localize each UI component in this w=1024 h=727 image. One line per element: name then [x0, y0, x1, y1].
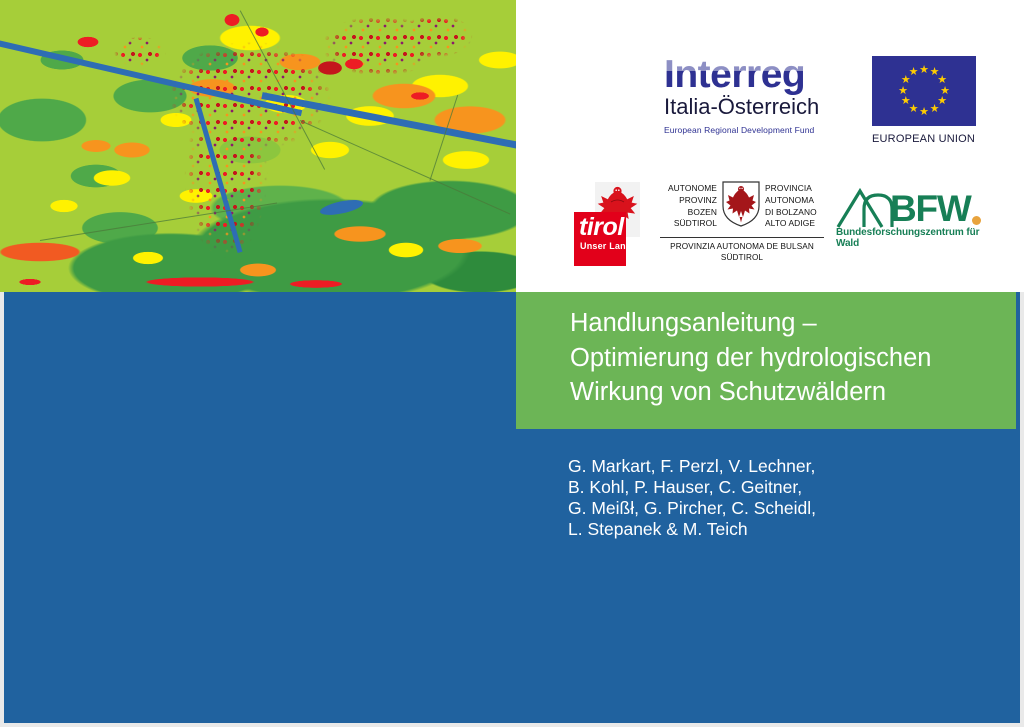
south-tyrol-italian-lines: PROVINCIA AUTONOMA DI BOLZANO ALTO ADIGE: [765, 183, 823, 231]
eu-star-icon: ★: [929, 104, 940, 115]
south-tyrol-divider: [660, 237, 824, 238]
eu-star-icon: ★: [900, 96, 911, 107]
eu-flag-icon: ★★★★★★★★★★★★: [872, 56, 976, 126]
report-cover-page: Interreg Italia-Österreich European Regi…: [0, 0, 1024, 727]
author-list: G. Markart, F. Perzl, V. Lechner, B. Koh…: [568, 456, 988, 540]
author-line: G. Markart, F. Perzl, V. Lechner,: [568, 456, 988, 477]
tirol-tagline: Unser Land: [580, 241, 632, 251]
bfw-logo: BFW Bundesforschungszentrum für Wald: [834, 183, 999, 253]
author-line: G. Meißł, G. Pircher, C. Scheidl,: [568, 498, 988, 519]
south-tyrol-logo: AUTONOME PROVINZ BOZEN SÜDTIROL: [656, 180, 828, 263]
author-line: B. Kohl, P. Hauser, C. Geitner,: [568, 477, 988, 498]
logo-band: Interreg Italia-Österreich European Regi…: [516, 0, 1024, 292]
page-left-edge: [0, 292, 4, 727]
eu-star-icon: ★: [919, 65, 930, 76]
eu-caption: EUROPEAN UNION: [872, 133, 982, 145]
cover-map-image: [0, 0, 516, 292]
page-bottom-edge: [0, 723, 1024, 727]
bfw-acronym: BFW: [890, 190, 971, 227]
document-title: Handlungsanleitung – Optimierung der hyd…: [570, 306, 998, 410]
tirol-name: tirol: [579, 215, 624, 240]
european-union-logo: ★★★★★★★★★★★★ EUROPEAN UNION: [872, 56, 982, 145]
south-tyrol-german-lines: AUTONOME PROVINZ BOZEN SÜDTIROL: [661, 183, 717, 231]
interreg-wordmark-text: Interreg: [664, 53, 805, 96]
author-line: L. Stepanek & M. Teich: [568, 519, 988, 540]
bfw-tagline: Bundesforschungszentrum für Wald: [836, 227, 999, 249]
eu-star-icon: ★: [898, 86, 909, 97]
eu-star-icon: ★: [919, 107, 930, 118]
interreg-programme-name: Italia-Österreich: [664, 95, 854, 120]
interreg-fund-line: European Regional Development Fund: [664, 125, 854, 135]
title-band: Handlungsanleitung – Optimierung der hyd…: [516, 292, 1016, 429]
bfw-dot: [972, 216, 981, 225]
tirol-logo: tirol Unser Land: [574, 182, 640, 266]
south-tyrol-top-row: AUTONOME PROVINZ BOZEN SÜDTIROL: [656, 180, 828, 233]
interreg-wordmark: Interreg: [664, 55, 805, 94]
south-tyrol-coat-of-arms-icon: [721, 180, 761, 233]
eu-star-icon: ★: [908, 67, 919, 78]
page-right-edge: [1020, 292, 1024, 727]
interreg-logo: Interreg Italia-Österreich European Regi…: [664, 55, 854, 135]
south-tyrol-ladin-lines: PROVINZIA AUTONOMA DE BULSAN SÜDTIROL: [656, 241, 828, 263]
